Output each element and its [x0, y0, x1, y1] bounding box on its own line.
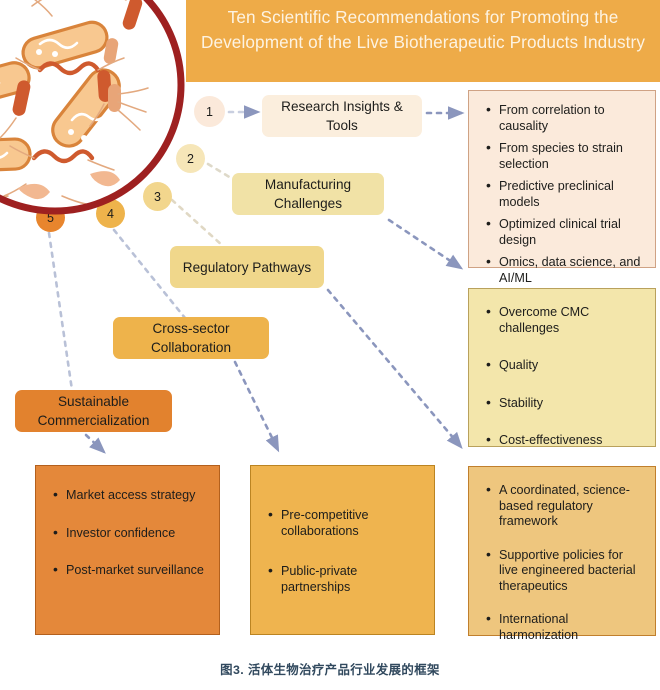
list-item: Predictive preclinical models — [499, 179, 645, 210]
step-number-2-label: 2 — [187, 152, 194, 166]
pill-manufacturing-challenges[interactable]: Manufacturing Challenges — [232, 173, 384, 215]
box-research-insights-list: From correlation to causality From speci… — [469, 103, 655, 286]
list-item: International harmonization — [499, 612, 645, 643]
infographic-canvas: Ten Scientific Recommendations for Promo… — [0, 0, 660, 690]
step-number-1-label: 1 — [206, 105, 213, 119]
list-item: Pre-competitive collaborations — [281, 508, 424, 539]
list-item: Optimized clinical trial design — [499, 217, 645, 248]
pill-cross-sector-collaboration-label: Cross-sector Collaboration — [121, 319, 261, 357]
list-item: Cost-effectiveness — [499, 433, 645, 449]
list-item: From correlation to causality — [499, 103, 645, 134]
pill-manufacturing-challenges-label: Manufacturing Challenges — [240, 175, 376, 213]
box-sustainable-commercialization: Market access strategy Investor confiden… — [35, 465, 220, 635]
list-item: Supportive policies for live engineered … — [499, 548, 645, 595]
pill-sustainable-commercialization[interactable]: Sustainable Commercialization — [15, 390, 172, 432]
list-item: Public-private partnerships — [281, 564, 424, 595]
list-item: From species to strain selection — [499, 141, 645, 172]
box-manufacturing-challenges: Overcome CMC challenges Quality Stabilit… — [468, 288, 656, 447]
figure-caption: 图3. 活体生物治疗产品行业发展的框架 — [0, 660, 660, 678]
list-item: Omics, data science, and AI/ML — [499, 255, 645, 286]
list-item: Stability — [499, 396, 645, 412]
box-regulatory-pathways-list: A coordinated, science-based regulatory … — [469, 483, 655, 643]
list-item: Post-market surveillance — [66, 563, 209, 579]
pill-cross-sector-collaboration[interactable]: Cross-sector Collaboration — [113, 317, 269, 359]
pill-research-insights-tools-label: Research Insights & Tools — [270, 97, 414, 135]
pill-regulatory-pathways[interactable]: Regulatory Pathways — [170, 246, 324, 288]
box-regulatory-pathways: A coordinated, science-based regulatory … — [468, 466, 656, 636]
step-number-1[interactable]: 1 — [194, 96, 225, 127]
list-item: A coordinated, science-based regulatory … — [499, 483, 645, 530]
header-banner: Ten Scientific Recommendations for Promo… — [186, 0, 660, 82]
list-item: Quality — [499, 358, 645, 374]
box-cross-sector-collaboration-list: Pre-competitive collaborations Public-pr… — [251, 508, 434, 595]
microscope-bacteria-illustration — [0, 0, 188, 218]
list-item: Investor confidence — [66, 526, 209, 542]
pill-research-insights-tools[interactable]: Research Insights & Tools — [262, 95, 422, 137]
page-title: Ten Scientific Recommendations for Promo… — [186, 5, 660, 55]
list-item: Market access strategy — [66, 488, 209, 504]
pill-regulatory-pathways-label: Regulatory Pathways — [183, 258, 311, 277]
box-sustainable-commercialization-list: Market access strategy Investor confiden… — [36, 488, 219, 579]
list-item: Overcome CMC challenges — [499, 305, 645, 336]
box-manufacturing-challenges-list: Overcome CMC challenges Quality Stabilit… — [469, 305, 655, 449]
pill-sustainable-commercialization-label: Sustainable Commercialization — [23, 392, 164, 430]
box-cross-sector-collaboration: Pre-competitive collaborations Public-pr… — [250, 465, 435, 635]
box-research-insights: From correlation to causality From speci… — [468, 90, 656, 268]
